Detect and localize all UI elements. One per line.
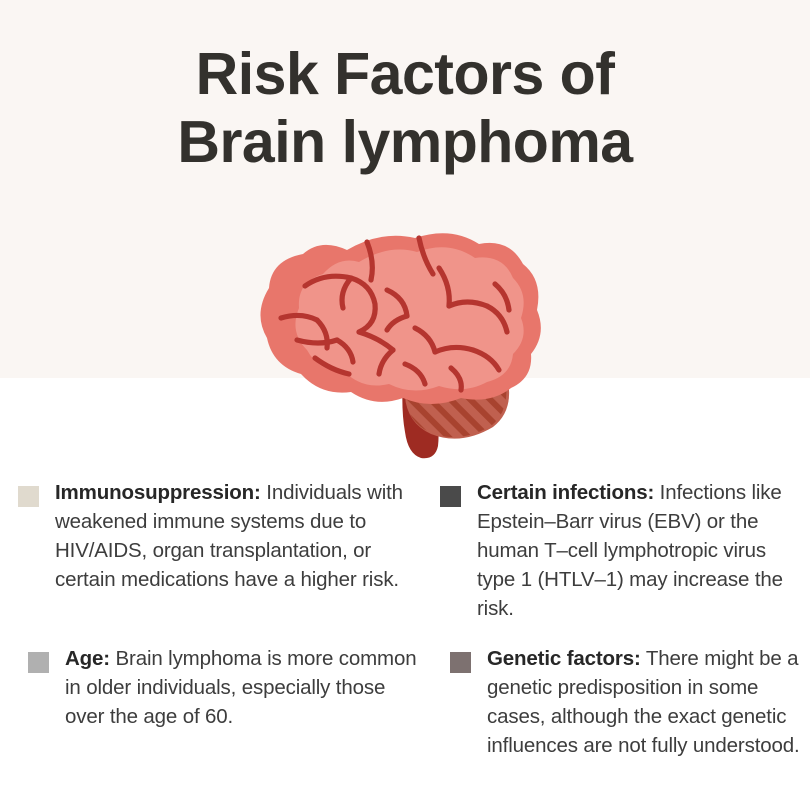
list-item-term: Age: bbox=[65, 647, 110, 670]
list-item-genetic-factors: Genetic factors: There might be a geneti… bbox=[440, 644, 810, 760]
brain-illustration bbox=[255, 228, 545, 468]
bullet-marker-icon bbox=[440, 486, 461, 507]
list-item-term: Genetic factors: bbox=[487, 647, 641, 670]
bullet-marker-icon bbox=[450, 652, 471, 673]
bullet-marker-icon bbox=[18, 486, 39, 507]
risk-factors-list: Immunosuppression: Individuals with weak… bbox=[0, 478, 810, 810]
list-item-certain-infections: Certain infections: Infections like Epst… bbox=[440, 478, 808, 623]
page-title: Risk Factors of Brain lymphoma bbox=[0, 40, 810, 176]
list-item-body: Certain infections: Infections like Epst… bbox=[477, 478, 808, 623]
title-line-1: Risk Factors of bbox=[0, 40, 810, 108]
list-item-body: Age: Brain lymphoma is more common in ol… bbox=[65, 644, 420, 731]
title-line-2: Brain lymphoma bbox=[0, 108, 810, 176]
list-item-age: Age: Brain lymphoma is more common in ol… bbox=[18, 644, 420, 731]
list-item-term: Immunosuppression: bbox=[55, 481, 261, 504]
list-item-term: Certain infections: bbox=[477, 481, 654, 504]
list-item-body: Genetic factors: There might be a geneti… bbox=[487, 644, 810, 760]
list-item-immunosuppression: Immunosuppression: Individuals with weak… bbox=[18, 478, 410, 594]
bullet-marker-icon bbox=[28, 652, 49, 673]
infographic-page: Risk Factors of Brain lymphoma bbox=[0, 0, 810, 810]
list-item-text: Brain lymphoma is more common in older i… bbox=[65, 647, 416, 728]
list-item-body: Immunosuppression: Individuals with weak… bbox=[55, 478, 410, 594]
